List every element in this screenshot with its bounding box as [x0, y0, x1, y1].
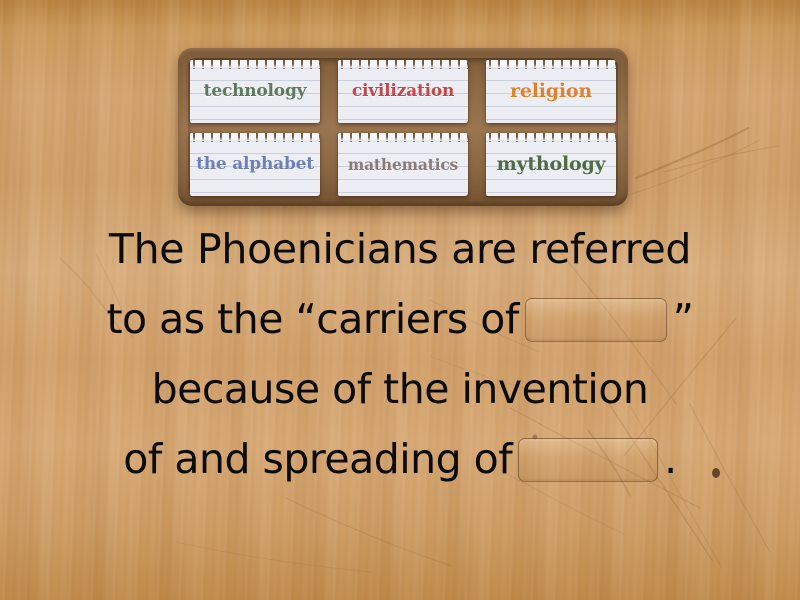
- notepad-tear-edge-icon: [190, 133, 320, 142]
- notepad-tear-edge-icon: [338, 133, 468, 142]
- question-line-2-after: ”: [673, 295, 694, 343]
- question-line-4-before: of and spreading of: [123, 435, 512, 483]
- question-line-1: The Phoenicians are referred: [0, 214, 800, 284]
- notepad-tear-edge-icon: [190, 60, 320, 69]
- question-line-2-before: to as the “carriers of: [106, 295, 518, 343]
- word-card-label: mathematics: [344, 157, 462, 173]
- word-card-label: civilization: [348, 83, 458, 100]
- word-card-label: mythology: [493, 155, 610, 174]
- activity-stage: technology civilization religion the alp…: [0, 0, 800, 600]
- question-text: The Phoenicians are referred to as the “…: [0, 214, 800, 494]
- word-card-mathematics[interactable]: mathematics: [338, 133, 468, 196]
- word-card-grid: technology civilization religion the alp…: [190, 60, 616, 196]
- word-card-civilization[interactable]: civilization: [338, 60, 468, 123]
- answer-blank-2[interactable]: [518, 438, 658, 482]
- notepad-tear-edge-icon: [338, 60, 468, 69]
- word-card-the-alphabet[interactable]: the alphabet: [190, 133, 320, 196]
- question-line-3: because of the invention: [0, 354, 800, 424]
- answer-blank-1[interactable]: [525, 298, 667, 342]
- word-card-label: technology: [200, 83, 311, 100]
- word-card-technology[interactable]: technology: [190, 60, 320, 123]
- notepad-tear-edge-icon: [486, 60, 616, 69]
- notepad-tear-edge-icon: [486, 133, 616, 142]
- word-card-religion[interactable]: religion: [486, 60, 616, 123]
- question-line-2: to as the “carriers of”: [0, 284, 800, 354]
- word-card-mythology[interactable]: mythology: [486, 133, 616, 196]
- question-line-4-after: .: [664, 435, 677, 483]
- word-card-label: religion: [506, 82, 596, 101]
- word-card-label: the alphabet: [192, 156, 318, 173]
- question-line-4: of and spreading of.: [0, 424, 800, 494]
